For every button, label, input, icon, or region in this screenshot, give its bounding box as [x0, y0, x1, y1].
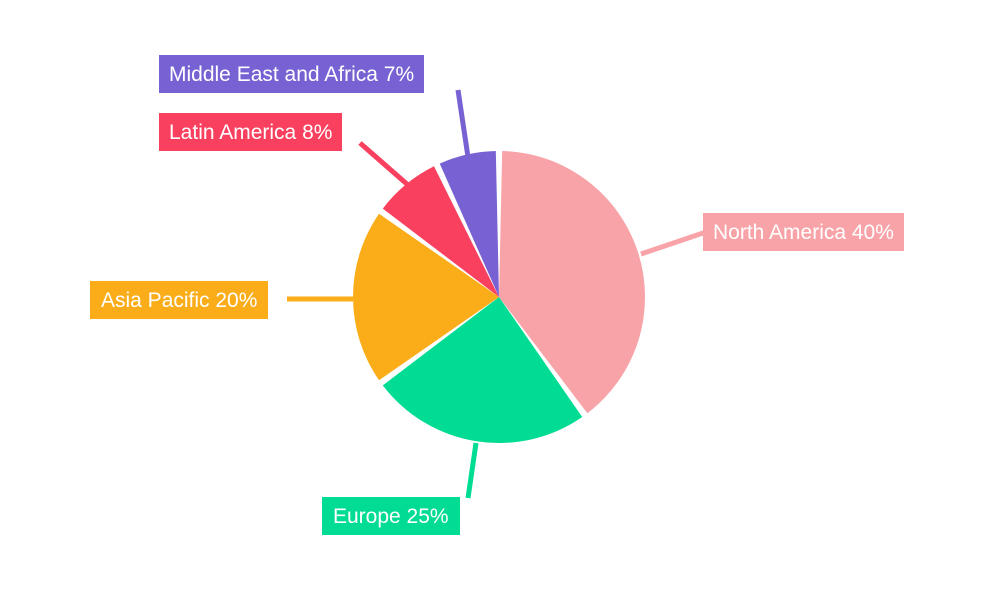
- pie-label-europe-text: Europe 25%: [333, 506, 449, 527]
- pie-label-asia-pacific-text: Asia Pacific 20%: [101, 290, 257, 311]
- pie-label-north-america-text: North America 40%: [713, 222, 894, 243]
- leader-line-latin-america: [360, 143, 408, 185]
- pie-label-asia-pacific[interactable]: Asia Pacific 20%: [90, 281, 268, 319]
- pie-chart-figure: Middle East and Africa 7% Latin America …: [0, 0, 1000, 600]
- pie-label-latin-america-text: Latin America 8%: [169, 122, 332, 143]
- leader-line-europe: [468, 443, 476, 498]
- pie-label-latin-america[interactable]: Latin America 8%: [159, 113, 342, 151]
- pie-slices: [353, 151, 645, 443]
- pie-label-middle-east-africa[interactable]: Middle East and Africa 7%: [159, 55, 424, 93]
- pie-label-europe[interactable]: Europe 25%: [322, 497, 460, 535]
- pie-label-north-america[interactable]: North America 40%: [703, 213, 904, 251]
- leader-line-middle-east-africa: [458, 90, 468, 157]
- leader-line-north-america: [641, 232, 706, 254]
- pie-label-middle-east-africa-text: Middle East and Africa 7%: [169, 64, 414, 85]
